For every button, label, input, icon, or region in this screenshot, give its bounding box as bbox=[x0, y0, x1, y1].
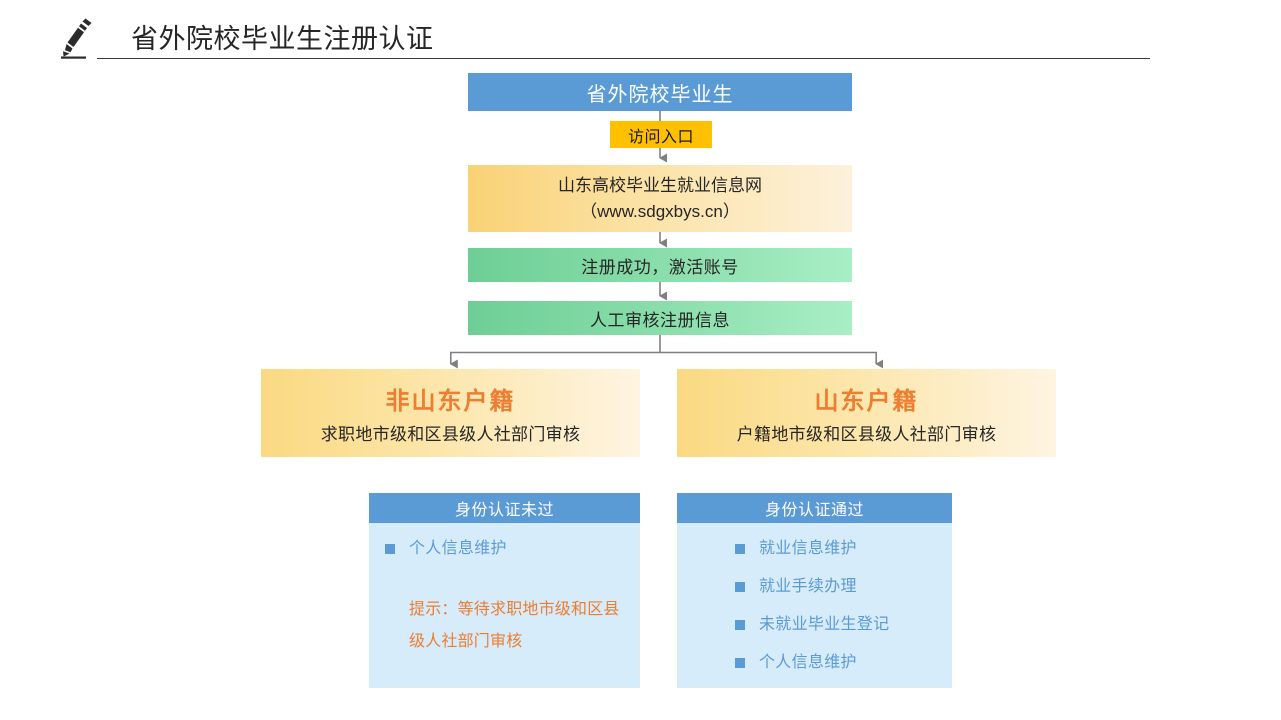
list-item[interactable]: 就业手续办理 bbox=[677, 575, 952, 599]
flow-label-access-entry-text: 访问入口 bbox=[628, 123, 694, 147]
flow-box-register-label: 注册成功，激活账号 bbox=[581, 253, 739, 278]
flow-box-graduates: 省外院校毕业生 bbox=[468, 73, 852, 111]
branch-title-non-shandong: 非山东户籍 bbox=[386, 381, 516, 416]
flow-box-manual-review: 人工审核注册信息 bbox=[468, 301, 852, 335]
flow-box-register-success: 注册成功，激活账号 bbox=[468, 248, 852, 282]
panel-identity-verification-passed: 身份认证通过 就业信息维护 就业手续办理 未就业毕业生登记 个人信息维护 bbox=[677, 493, 952, 688]
flow-box-site-line2: （www.sdgxbys.cn） bbox=[580, 199, 740, 225]
list-item[interactable]: 就业信息维护 bbox=[677, 537, 952, 561]
bullet-square-icon bbox=[735, 620, 745, 630]
bullet-square-icon bbox=[735, 658, 745, 668]
branch-subtitle-non-shandong: 求职地市级和区县级人社部门审核 bbox=[321, 420, 581, 445]
list-item-label: 个人信息维护 bbox=[409, 537, 507, 561]
pencil-icon bbox=[58, 16, 98, 60]
list-item[interactable]: 未就业毕业生登记 bbox=[677, 613, 952, 637]
page-header: 省外院校毕业生注册认证 bbox=[0, 0, 1281, 68]
flow-label-access-entry: 访问入口 bbox=[610, 121, 712, 148]
branch-box-non-shandong: 非山东户籍 求职地市级和区县级人社部门审核 bbox=[261, 369, 640, 457]
flow-box-site-line1: 山东高校毕业生就业信息网 bbox=[558, 173, 762, 199]
bullet-square-icon bbox=[385, 544, 395, 554]
list-item-label: 个人信息维护 bbox=[759, 651, 857, 675]
list-item[interactable]: 个人信息维护 bbox=[677, 651, 952, 675]
panel-body-failed: 个人信息维护 提示：等待求职地市级和区县级人社部门审核 bbox=[369, 523, 640, 688]
flow-box-graduates-label: 省外院校毕业生 bbox=[587, 78, 734, 107]
list-item-label: 未就业毕业生登记 bbox=[759, 613, 889, 637]
list-item-label: 就业信息维护 bbox=[759, 537, 857, 561]
branch-title-shandong: 山东户籍 bbox=[815, 381, 919, 416]
flow-box-employment-site: 山东高校毕业生就业信息网 （www.sdgxbys.cn） bbox=[468, 165, 852, 232]
bullet-square-icon bbox=[735, 582, 745, 592]
panel-header-passed: 身份认证通过 bbox=[677, 493, 952, 523]
panel-header-failed: 身份认证未过 bbox=[369, 493, 640, 523]
page-title: 省外院校毕业生注册认证 bbox=[131, 23, 434, 55]
branch-box-shandong: 山东户籍 户籍地市级和区县级人社部门审核 bbox=[677, 369, 1056, 457]
panel-note-failed: 提示：等待求职地市级和区县级人社部门审核 bbox=[369, 594, 640, 658]
list-item[interactable]: 个人信息维护 bbox=[369, 537, 640, 561]
list-item-label: 就业手续办理 bbox=[759, 575, 857, 599]
bullet-square-icon bbox=[735, 544, 745, 554]
branch-subtitle-shandong: 户籍地市级和区县级人社部门审核 bbox=[737, 420, 997, 445]
header-divider bbox=[97, 58, 1150, 59]
panel-identity-verification-failed: 身份认证未过 个人信息维护 提示：等待求职地市级和区县级人社部门审核 bbox=[369, 493, 640, 688]
panel-body-passed: 就业信息维护 就业手续办理 未就业毕业生登记 个人信息维护 bbox=[677, 523, 952, 688]
flow-box-review-label: 人工审核注册信息 bbox=[590, 306, 730, 331]
